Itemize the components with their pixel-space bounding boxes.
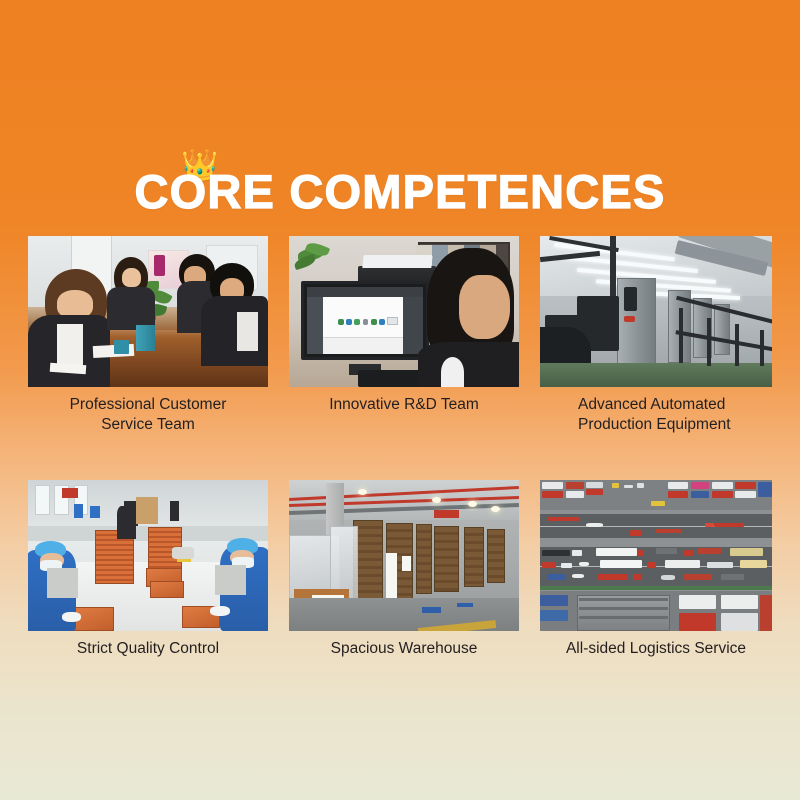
caption-professional-customer-service-team: Professional Customer Service Team [28, 395, 268, 435]
photo-strict-quality-control [28, 480, 268, 631]
grid-item-all-sided-logistics-service[interactable]: All-sided Logistics Service [540, 480, 772, 658]
page-title: CORE COMPETENCES [134, 150, 665, 215]
photo-innovative-rd-team [289, 236, 519, 387]
caption-line-1: All-sided Logistics Service [566, 640, 746, 657]
page-title-block: 👑 CORE COMPETENCES [0, 150, 800, 215]
grid-item-spacious-warehouse[interactable]: Spacious Warehouse [289, 480, 519, 658]
caption-innovative-rd-team: Innovative R&D Team [289, 395, 519, 414]
grid-item-advanced-automated-production-equipment[interactable]: Advanced Automated Production Equipment [540, 236, 772, 435]
photo-all-sided-logistics-service [540, 480, 772, 631]
caption-line-1: Spacious Warehouse [331, 640, 478, 657]
caption-spacious-warehouse: Spacious Warehouse [289, 639, 519, 658]
competences-grid: Professional Customer Service Team [28, 236, 772, 659]
caption-line-1: Strict Quality Control [77, 640, 219, 657]
grid-item-strict-quality-control[interactable]: Strict Quality Control [28, 480, 268, 658]
caption-advanced-automated-production-equipment: Advanced Automated Production Equipment [540, 395, 772, 435]
caption-line-1: Innovative R&D Team [329, 396, 479, 413]
caption-strict-quality-control: Strict Quality Control [28, 639, 268, 658]
caption-all-sided-logistics-service: All-sided Logistics Service [540, 639, 772, 658]
caption-line-1: Professional Customer [70, 396, 227, 413]
photo-professional-customer-service-team [28, 236, 268, 387]
caption-line-2: Service Team [101, 416, 195, 433]
caption-line-1: Advanced Automated [578, 396, 725, 413]
grid-item-innovative-rd-team[interactable]: Innovative R&D Team [289, 236, 519, 435]
photo-advanced-automated-production-equipment [540, 236, 772, 387]
core-competences-banner: 👑 CORE COMPETENCES [0, 0, 800, 800]
photo-spacious-warehouse [289, 480, 519, 631]
grid-item-professional-customer-service-team[interactable]: Professional Customer Service Team [28, 236, 268, 435]
caption-line-2: Production Equipment [578, 416, 731, 433]
